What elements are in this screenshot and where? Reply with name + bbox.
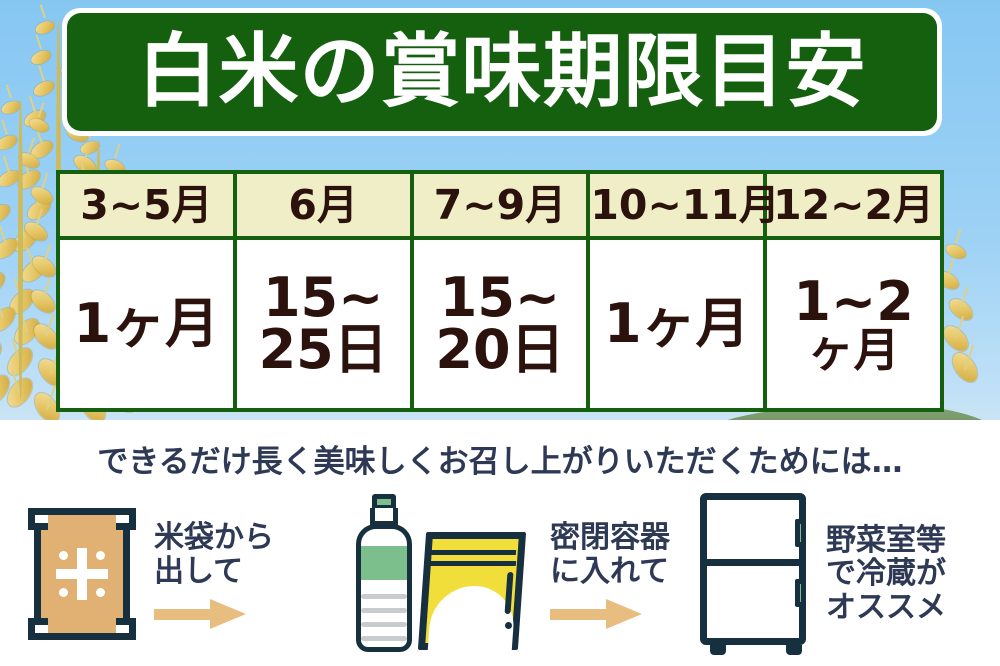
bottle-body xyxy=(356,580,412,652)
arrow-right-icon xyxy=(550,601,642,627)
storage-steps: 米袋から 出して xyxy=(0,482,1000,666)
airtight-container-icon xyxy=(352,494,528,654)
table-value-cell: 1ヶ月 xyxy=(588,238,765,410)
title-banner-inner: 白米の賞味期限目安 xyxy=(67,13,937,131)
fridge-handle-upper xyxy=(795,519,806,547)
duration-line: 1~2 xyxy=(767,276,940,328)
fridge-body xyxy=(700,493,806,645)
title-banner: 白米の賞味期限目安 xyxy=(62,8,942,136)
duration-value: 15~ 25日 xyxy=(237,272,410,376)
step-caption: 密閉容器 に入れて xyxy=(550,521,670,588)
step-caption: 米袋から 出して xyxy=(154,521,274,588)
duration-line: 1ヶ月 xyxy=(60,298,233,350)
water-bottle-icon xyxy=(352,494,416,654)
step-caption-line: 野菜室等 xyxy=(826,524,946,558)
zip-bag-icon xyxy=(422,532,528,654)
duration-line: 15~ xyxy=(414,272,587,324)
table-header-cell: 10~11月 xyxy=(588,172,765,238)
step-remove-from-bag: 米袋から 出して xyxy=(28,482,274,666)
duration-line: 1ヶ月 xyxy=(590,298,763,350)
step-caption: 野菜室等 で冷蔵が オススメ xyxy=(826,524,946,625)
table-header-row: 3~5月 6月 7~9月 10~11月 12~2月 xyxy=(58,172,942,238)
duration-value: 1~2 ヶ月 xyxy=(767,276,940,372)
table-value-cell: 1~2 ヶ月 xyxy=(765,238,942,410)
table-value-cell: 1ヶ月 xyxy=(58,238,235,410)
table-body-row: 1ヶ月 15~ 25日 15~ 20日 xyxy=(58,238,942,410)
step-caption-line: 米袋から xyxy=(154,521,274,555)
duration-value: 1ヶ月 xyxy=(60,298,233,350)
table-header-cell: 12~2月 xyxy=(765,172,942,238)
table-value-cell: 15~ 25日 xyxy=(235,238,412,410)
refrigerator-icon xyxy=(700,493,812,655)
rice-bag-icon xyxy=(28,504,136,644)
kome-kanji-icon xyxy=(56,548,108,600)
arrow-right-icon xyxy=(154,601,246,627)
table-header-cell: 7~9月 xyxy=(412,172,589,238)
fridge-handle-lower xyxy=(795,579,806,607)
bottle-label xyxy=(356,546,412,582)
table-header-cell: 3~5月 xyxy=(58,172,235,238)
duration-line: 15~ xyxy=(237,272,410,324)
rice-bag-corner xyxy=(28,508,48,530)
shelf-life-table: 3~5月 6月 7~9月 10~11月 12~2月 1ヶ月 15~ 25日 xyxy=(56,170,944,412)
step-airtight-container: 密閉容器 に入れて xyxy=(352,482,670,666)
page-title: 白米の賞味期限目安 xyxy=(138,32,867,112)
infographic-canvas: 白米の賞味期限目安 3~5月 6月 7~9月 10~11月 12~2月 1ヶ月 xyxy=(0,0,1000,666)
table-value-cell: 15~ 20日 xyxy=(412,238,589,410)
step-caption-line: オススメ xyxy=(826,591,946,625)
duration-line: ヶ月 xyxy=(767,328,940,372)
step-refrigerate: 野菜室等 で冷蔵が オススメ xyxy=(700,482,946,666)
rice-bag-corner xyxy=(28,618,48,640)
duration-value: 15~ 20日 xyxy=(414,272,587,376)
rice-bag-corner xyxy=(116,618,136,640)
step-caption-line: 密閉容器 xyxy=(550,521,670,555)
rice-bag-corner xyxy=(116,508,136,530)
step-caption-line: 出して xyxy=(154,555,274,589)
duration-value: 1ヶ月 xyxy=(590,298,763,350)
refrigerator-shape xyxy=(700,493,812,655)
step-caption-line: に入れて xyxy=(550,555,670,589)
duration-line: 25日 xyxy=(237,324,410,376)
step-caption-line: で冷蔵が xyxy=(826,557,946,591)
duration-line: 20日 xyxy=(414,324,587,376)
table-header-cell: 6月 xyxy=(235,172,412,238)
lead-text: できるだけ長く美味しくお召し上がりいただくためには… xyxy=(0,436,1000,481)
rice-bag-shape xyxy=(28,504,136,644)
